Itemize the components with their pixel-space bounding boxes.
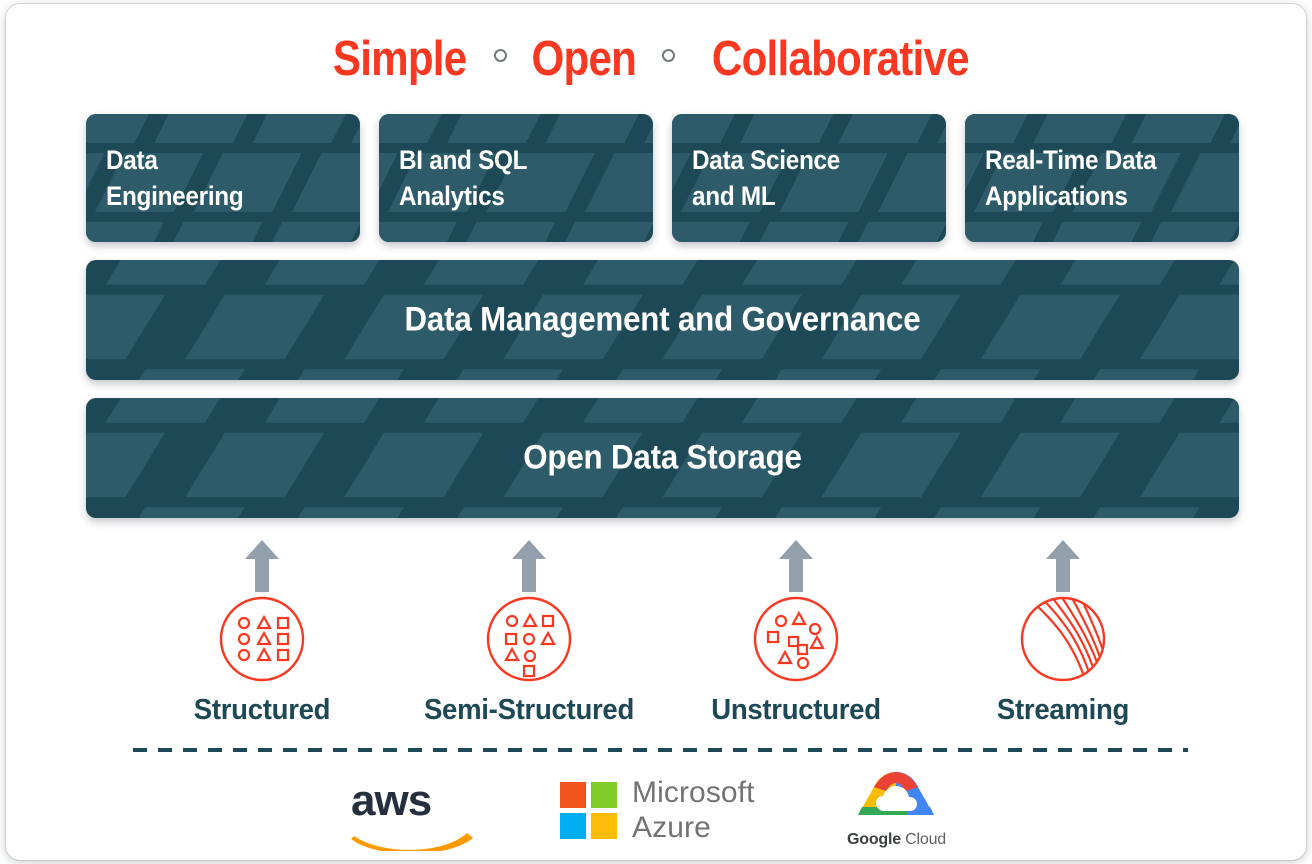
dashed-divider (133, 748, 1188, 752)
layer-box-label: Data Engineering (106, 142, 243, 214)
google-cloud-logo: Google Cloud (846, 769, 946, 857)
azure-wordmark-line1: Microsoft (632, 775, 755, 810)
source-label-unstructured: Unstructured (673, 694, 920, 727)
layer-box-bi-and-sql-analytics[interactable]: BI and SQL Analytics (379, 114, 653, 242)
google-cloud-mark-icon (846, 769, 946, 829)
layer-band-label: Open Data Storage (132, 439, 1193, 478)
title-word-collaborative: Collaborative (712, 31, 969, 87)
title-word-simple: Simple (333, 31, 467, 87)
microsoft-squares-icon (560, 782, 618, 840)
streaming-flow-lines-icon (1020, 596, 1106, 682)
aws-swoosh-icon (351, 825, 476, 851)
circle-separator-icon (494, 49, 507, 62)
microsoft-square-green (591, 782, 617, 808)
layer-box-label: Data Science and ML (692, 142, 840, 214)
diagram-card: Simple Open Collaborative Data Engineeri… (6, 4, 1306, 860)
source-label-structured: Structured (139, 694, 386, 727)
layer-box-data-engineering[interactable]: Data Engineering (86, 114, 360, 242)
layer-box-label: Real-Time Data Applications (985, 142, 1156, 214)
circle-separator-icon (662, 49, 675, 62)
unstructured-scattered-shapes-icon (753, 596, 839, 682)
microsoft-square-blue (560, 813, 586, 839)
google-cloud-word-cloud: Cloud (905, 831, 946, 848)
layer-band-data-management-and-governance[interactable]: Data Management and Governance (86, 260, 1239, 380)
microsoft-square-yellow (591, 813, 617, 839)
layer-box-real-time-data-applications[interactable]: Real-Time Data Applications (965, 114, 1239, 242)
microsoft-azure-logo: Microsoft Azure (560, 776, 770, 850)
aws-logo: aws (351, 779, 476, 847)
arrow-up-icon (1046, 540, 1080, 592)
layer-band-open-data-storage[interactable]: Open Data Storage (86, 398, 1239, 518)
google-cloud-word-google: Google (847, 831, 901, 848)
arrow-up-icon (245, 540, 279, 592)
microsoft-square-red (560, 782, 586, 808)
semi-structured-shapes-icon (486, 596, 572, 682)
arrow-up-icon (779, 540, 813, 592)
structured-grid-shapes-icon (219, 596, 305, 682)
source-label-streaming: Streaming (940, 694, 1187, 727)
page-title: Simple Open Collaborative (6, 31, 1306, 87)
source-label-semi-structured: Semi-Structured (406, 694, 653, 727)
layer-box-label: BI and SQL Analytics (399, 142, 527, 214)
layer-box-data-science-and-ml[interactable]: Data Science and ML (672, 114, 946, 242)
layer-band-label: Data Management and Governance (132, 301, 1193, 340)
title-word-open: Open (532, 31, 637, 87)
arrow-up-icon (512, 540, 546, 592)
azure-wordmark-line2: Azure (632, 810, 755, 845)
aws-wordmark: aws (351, 779, 476, 823)
azure-wordmark: Microsoft Azure (632, 775, 755, 846)
google-cloud-wordmark: Google Cloud (839, 831, 954, 849)
